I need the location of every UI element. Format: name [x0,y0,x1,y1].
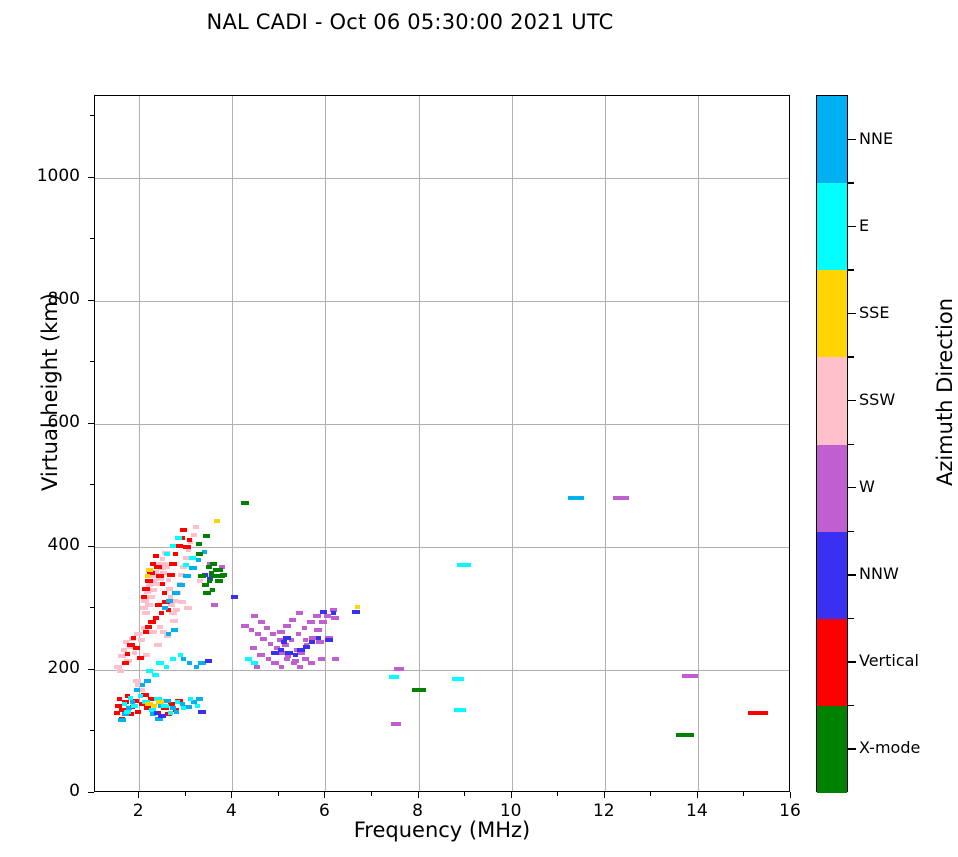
data-point-nnw [331,611,336,615]
data-point-nne [140,683,145,687]
data-point-vertical [131,636,136,640]
data-point-ssw [183,556,189,560]
data-point-ssw [178,600,186,604]
data-point-w [257,653,265,657]
colorbar-tick [848,400,856,401]
gridline-horizontal [95,547,789,548]
data-point-ssw [170,619,178,623]
data-point-w [331,616,339,620]
data-point-w [613,496,629,500]
gridline-horizontal [95,424,789,425]
data-point-e [457,563,471,567]
data-point-nne [134,688,140,692]
data-point-w [303,638,308,642]
data-point-w [264,626,270,630]
data-point-w [249,628,254,632]
data-point-nnw [293,653,298,657]
data-point-w [296,632,301,636]
data-point-nnw [154,711,159,715]
data-point-e [138,694,143,698]
data-point-e [128,696,133,700]
data-point-vertical [169,562,177,566]
data-point-nnw [283,636,291,640]
data-point-w [332,657,339,661]
colorbar-tick [848,139,856,140]
y-tick-minor [90,484,94,485]
data-point-ssw [147,595,155,599]
data-point-w [319,620,327,624]
data-point-e [175,700,180,704]
x-tick-minor [185,792,186,796]
x-tick-minor [790,792,791,796]
data-point-x-mode [210,588,215,592]
data-point-e [181,706,186,710]
colorbar-segment-nne [817,96,847,183]
data-point-e [175,536,182,540]
data-point-vertical [142,587,150,591]
data-point-x-mode [196,552,203,556]
data-point-w [277,630,285,634]
gridline-horizontal [95,301,789,302]
data-point-ssw [145,603,153,607]
data-point-nne [196,697,203,701]
colorbar-label-sse: SSE [859,303,889,322]
x-tick-minor [557,792,558,796]
colorbar-tick [848,487,856,488]
data-point-ssw [149,630,157,634]
data-point-x-mode [203,534,210,538]
data-point-nne [181,657,186,661]
data-point-e [183,563,189,567]
data-point-nnw [231,595,238,599]
colorbar-label-nne: NNE [859,129,893,148]
y-tick-minor [90,177,94,178]
data-point-w [260,637,267,641]
data-point-w [296,611,303,615]
data-point-vertical [187,538,192,542]
gridline-horizontal [95,178,789,179]
y-tick-minor [90,669,94,670]
data-point-nne [189,566,197,570]
data-point-nnw [352,610,360,614]
data-point-x-mode [412,688,426,692]
data-point-e [161,704,169,708]
x-tick-minor [324,792,325,796]
y-tick-minor [90,238,94,239]
data-point-vertical [148,620,156,624]
data-point-vertical [135,710,141,714]
data-point-e [170,544,176,548]
data-point-vertical [143,630,149,634]
data-point-e [389,675,399,679]
y-tick-minor [90,115,94,116]
data-point-e [122,702,127,706]
y-tick-minor [90,361,94,362]
colorbar-title: Azimuth Direction [933,242,957,542]
data-point-e [164,665,169,669]
colorbar-boundary-tick [848,356,854,357]
x-tick-minor [418,792,419,796]
data-point-ssw [117,669,124,673]
data-point-e [189,556,196,560]
data-point-w [268,642,273,646]
data-point-w [266,657,271,661]
data-point-x-mode [676,733,694,737]
data-point-nne [163,699,171,703]
colorbar-tick [848,574,856,575]
y-tick-minor [90,423,94,424]
data-point-vertical [175,544,183,548]
data-point-w [284,657,290,661]
data-point-w [394,667,404,671]
x-tick-minor [371,792,372,796]
colorbar-boundary-tick [848,269,854,270]
data-point-vertical [133,646,140,650]
colorbar-label-e: E [859,216,869,235]
data-point-w [279,665,284,669]
y-tick-minor [90,546,94,547]
colorbar-segment-e [817,183,847,270]
plot-area [94,95,790,792]
colorbar-segment-sse [817,270,847,357]
colorbar-boundary-tick [848,444,854,445]
data-point-e [454,708,466,712]
data-point-nnw [325,638,333,642]
data-point-nnw [303,645,310,649]
chart-title: NAL CADI - Oct 06 05:30:00 2021 UTC [0,10,820,34]
y-tick [88,792,94,793]
data-point-e [188,697,193,701]
data-point-w [241,624,249,628]
data-point-w [314,628,322,632]
y-tick-minor [90,607,94,608]
data-point-ssw [160,557,165,561]
data-point-e [168,711,173,715]
colorbar-segment-nnw [817,532,847,619]
data-point-vertical [167,573,175,577]
colorbar-boundary-tick [848,705,854,706]
data-point-vertical [180,528,187,532]
data-point-ssw [149,588,157,592]
data-point-e [170,657,176,661]
colorbar-segment-x-mode [817,706,847,793]
data-point-vertical [125,652,130,656]
data-point-vertical [154,565,162,569]
data-point-nne [118,718,126,722]
data-point-w [270,632,276,636]
data-point-x-mode [215,579,223,583]
data-point-nne [174,710,179,714]
data-point-nne [162,606,168,610]
data-point-e [131,704,138,708]
data-point-w [297,665,303,669]
data-point-sse [156,700,164,704]
data-point-vertical [122,661,129,665]
data-point-nnw [316,636,321,640]
data-point-nne [568,496,584,500]
data-point-x-mode [196,542,202,546]
colorbar-tick [848,313,856,314]
data-point-e [178,653,183,657]
data-point-nnw [297,648,305,652]
x-tick-minor [511,792,512,796]
data-point-x-mode [220,573,227,577]
data-point-nne [144,679,151,683]
data-point-vertical [156,574,164,578]
colorbar-segment-vertical [817,619,847,706]
data-point-w [302,626,307,630]
data-point-ssw [173,608,180,612]
x-tick-minor [138,792,139,796]
y-tick-label: 1000 [10,166,80,186]
x-tick-minor [464,792,465,796]
colorbar-label-x-mode: X-mode [859,738,920,757]
data-point-ssw [138,638,145,642]
colorbar-segment-ssw [817,357,847,444]
data-point-sse [145,574,150,578]
data-point-sse [355,605,360,609]
data-point-vertical [162,591,167,595]
data-point-nnw [281,640,287,644]
data-point-vertical [160,582,165,586]
x-tick-minor [604,792,605,796]
colorbar-boundary-tick [848,618,854,619]
x-tick-minor [231,792,232,796]
data-point-w [289,618,296,622]
data-point-e [152,673,159,677]
data-point-sse [214,519,220,523]
data-point-vertical [153,554,159,558]
colorbar [816,95,848,792]
colorbar-tick [848,226,856,227]
data-point-vertical [145,579,153,583]
data-point-nne [187,661,192,665]
data-point-nne [177,583,185,587]
data-point-nnw [198,710,206,714]
data-point-ssw [132,651,137,655]
data-point-e [124,710,131,714]
data-point-nne [166,599,173,603]
data-point-vertical [137,656,144,660]
colorbar-label-nnw: NNW [859,564,899,583]
data-point-ssw [169,611,177,615]
gridline-vertical [605,96,606,791]
data-point-sse [146,568,153,572]
data-point-nnw [271,651,279,655]
data-point-nnw [205,659,212,663]
y-tick-minor [90,730,94,731]
data-point-vertical [173,552,178,556]
data-point-ssw [143,653,150,657]
data-point-w [318,657,325,661]
data-point-nne [171,628,178,632]
data-point-ssw [142,611,150,615]
data-point-x-mode [198,574,206,578]
colorbar-boundary-tick [848,531,854,532]
data-point-nne [196,558,201,562]
data-point-vertical [141,595,147,599]
data-point-vertical [159,611,164,615]
data-point-w [258,620,265,624]
data-point-ssw [166,578,171,582]
data-point-ssw [184,606,192,610]
gridline-vertical [512,96,513,791]
data-point-vertical [748,711,768,715]
data-point-w [307,620,315,624]
data-point-w [211,603,218,607]
x-axis-title: Frequency (MHz) [94,818,790,842]
data-point-w [313,614,321,618]
data-point-vertical [183,545,191,549]
data-point-w [250,646,257,650]
data-point-x-mode [210,562,217,566]
data-point-nne [183,574,191,578]
colorbar-label-w: W [859,477,875,496]
x-tick-minor [697,792,698,796]
x-tick-minor [650,792,651,796]
data-point-nne [166,632,171,636]
y-axis-title: Virtual height (km) [38,242,62,542]
gridline-horizontal [95,670,789,671]
data-point-nne [172,591,180,595]
data-point-nnw [320,610,327,614]
data-point-w [316,640,324,644]
data-point-w [682,674,698,678]
data-point-e [164,552,170,556]
x-tick-minor [743,792,744,796]
data-point-nnw [309,640,315,644]
data-point-e [195,704,200,708]
data-point-vertical [145,625,152,629]
gridline-vertical [325,96,326,791]
data-point-e [452,677,464,681]
gridline-vertical [232,96,233,791]
gridline-vertical [698,96,699,791]
data-point-w [391,722,401,726]
y-tick-label: 0 [10,781,80,801]
data-point-nne [194,665,199,669]
colorbar-boundary-tick [848,182,854,183]
data-point-ssw [193,525,199,529]
data-point-x-mode [241,501,249,505]
y-tick-minor [90,300,94,301]
data-point-w [255,632,261,636]
data-point-sse [152,704,157,708]
colorbar-segment-w [817,445,847,532]
colorbar-label-vertical: Vertical [859,651,919,670]
data-point-w [283,624,291,628]
data-point-x-mode [202,583,209,587]
x-tick-minor [278,792,279,796]
colorbar-tick [848,661,856,662]
data-point-ssw [157,625,163,629]
data-point-w [308,661,315,665]
y-tick-label: 200 [10,658,80,678]
colorbar-tick [848,748,856,749]
data-point-w [254,665,260,669]
colorbar-label-ssw: SSW [859,390,895,409]
data-point-ssw [191,533,197,537]
data-point-w [251,614,258,618]
data-point-ssw [154,643,162,647]
